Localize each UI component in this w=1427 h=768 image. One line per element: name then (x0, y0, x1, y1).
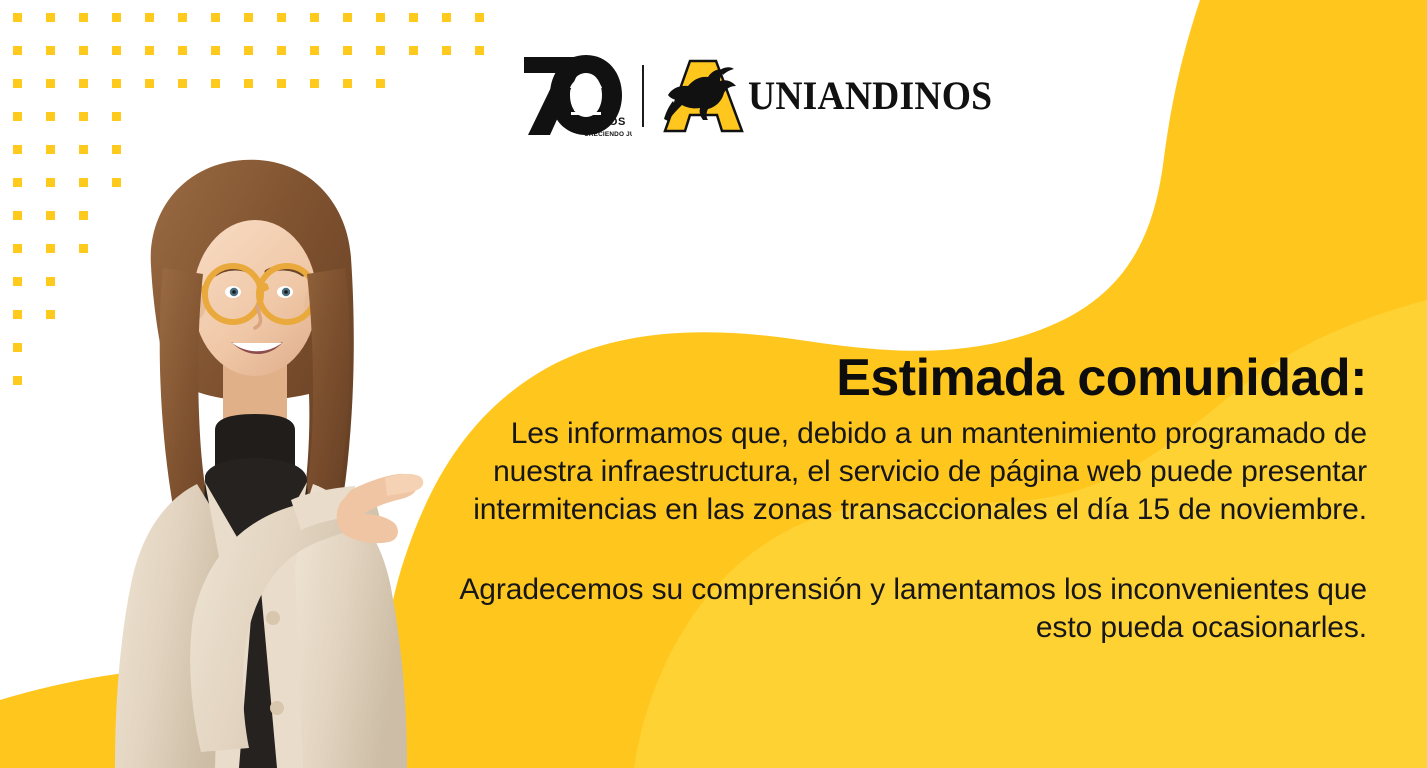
dot-square (13, 376, 22, 385)
logo-divider (642, 65, 644, 127)
anniversary-70-logo: AÑOS CRECIENDO JUNTOS (520, 51, 632, 141)
dot-square (376, 13, 385, 22)
brand-logo-bar: AÑOS CRECIENDO JUNTOS UNIANDINOS (520, 50, 1008, 142)
dot-square (178, 79, 187, 88)
dot-square (178, 13, 187, 22)
dot-square (376, 46, 385, 55)
dot-square (343, 79, 352, 88)
dot-square (46, 211, 55, 220)
uniandinos-logo: UNIANDINOS (660, 57, 1008, 135)
dot-square (211, 46, 220, 55)
dot-square (13, 310, 22, 319)
dot-square (277, 79, 286, 88)
dot-square (409, 46, 418, 55)
dot-square (13, 277, 22, 286)
dot-square (475, 13, 484, 22)
dot-square (376, 79, 385, 88)
dot-square (46, 310, 55, 319)
uniandinos-wordmark: UNIANDINOS (748, 76, 992, 116)
announcement-banner: AÑOS CRECIENDO JUNTOS UNIANDINOS Estim (0, 0, 1427, 768)
dot-square (46, 145, 55, 154)
uniandinos-a-bull-icon (660, 57, 744, 135)
dot-square (310, 13, 319, 22)
dot-square (244, 79, 253, 88)
dot-square (277, 13, 286, 22)
anniversary-tagline: CRECIENDO JUNTOS (584, 131, 632, 138)
dot-square (13, 79, 22, 88)
dot-square (79, 112, 88, 121)
dot-square (343, 46, 352, 55)
photo-woman-pointing (55, 148, 445, 768)
dot-square (442, 46, 451, 55)
announcement-paragraph-1: Les informamos que, debido a un mantenim… (407, 415, 1367, 529)
dot-square (343, 13, 352, 22)
dot-square (145, 13, 154, 22)
dot-square (13, 145, 22, 154)
dot-square (13, 46, 22, 55)
dot-square (13, 343, 22, 352)
announcement-paragraph-2: Agradecemos su comprensión y lamentamos … (407, 571, 1367, 647)
dot-square (79, 46, 88, 55)
dot-square (112, 79, 121, 88)
anniversary-word: AÑOS (592, 115, 626, 128)
dot-square (475, 46, 484, 55)
dot-square (46, 277, 55, 286)
dot-square (13, 112, 22, 121)
dot-square (79, 13, 88, 22)
announcement-copy: Estimada comunidad: Les informamos que, … (407, 352, 1367, 648)
dot-square (211, 13, 220, 22)
dot-square (310, 79, 319, 88)
dot-square (112, 112, 121, 121)
dot-square (13, 13, 22, 22)
dot-square (79, 79, 88, 88)
dot-square (244, 46, 253, 55)
dot-square (46, 244, 55, 253)
dot-square (46, 112, 55, 121)
dot-square (178, 46, 187, 55)
dot-square (145, 46, 154, 55)
dot-square (46, 178, 55, 187)
dot-square (211, 79, 220, 88)
announcement-headline: Estimada comunidad: (407, 352, 1367, 405)
dot-square (13, 211, 22, 220)
dot-square (46, 79, 55, 88)
dot-square (145, 79, 154, 88)
dot-square (112, 46, 121, 55)
dot-square (244, 13, 253, 22)
dot-square (13, 244, 22, 253)
dot-square (46, 13, 55, 22)
dot-square (409, 13, 418, 22)
dot-square (310, 46, 319, 55)
dot-square (112, 13, 121, 22)
dot-square (442, 13, 451, 22)
dot-square (13, 178, 22, 187)
dot-square (277, 46, 286, 55)
dot-square (46, 46, 55, 55)
